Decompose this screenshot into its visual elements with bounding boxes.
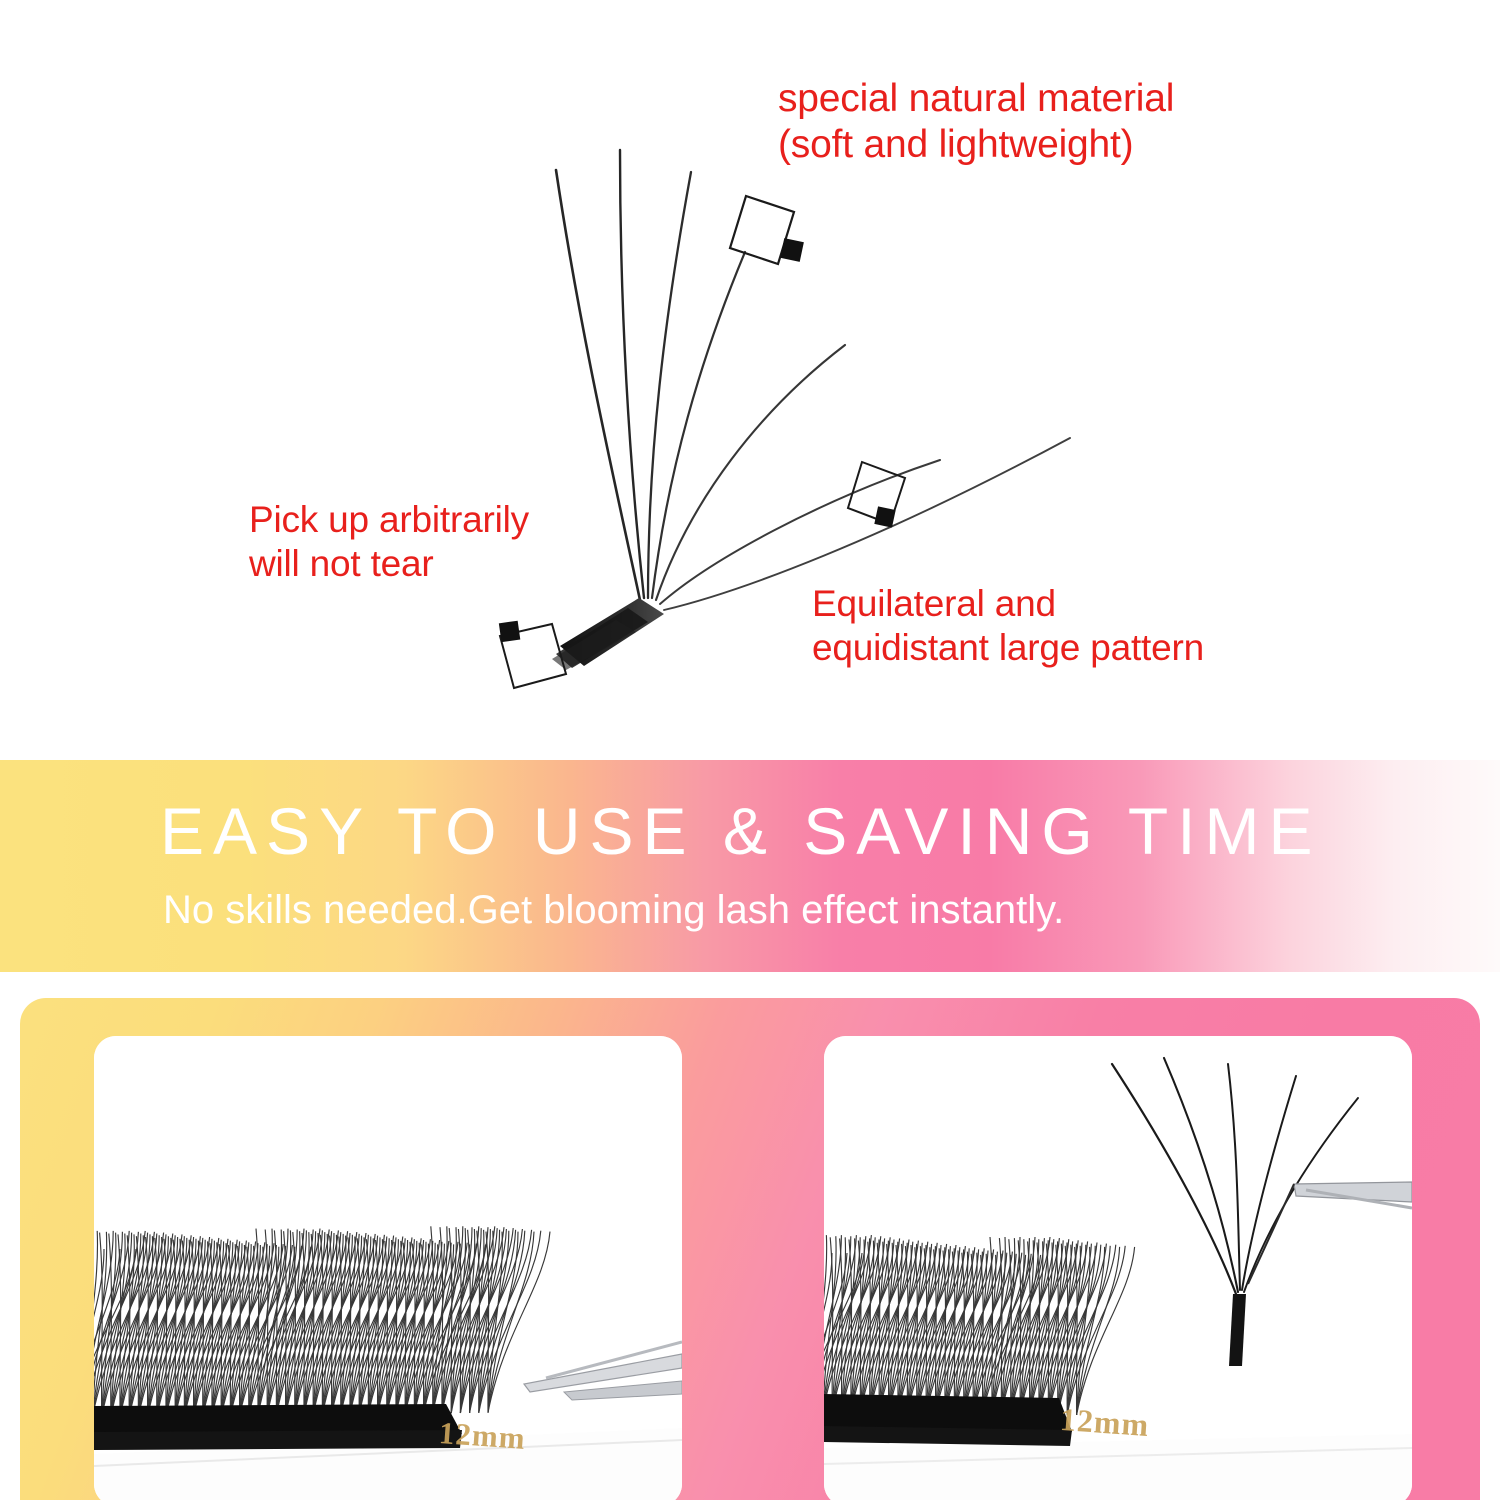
callout-label-material: special natural material (soft and light… bbox=[778, 76, 1174, 168]
lash-diagram-section: special natural material (soft and light… bbox=[0, 0, 1500, 760]
banner-subtitle: No skills needed.Get blooming lash effec… bbox=[163, 890, 1064, 930]
callout-label-pickup: Pick up arbitrarily will not tear bbox=[249, 498, 529, 585]
callout-marker-top bbox=[730, 196, 804, 264]
product-photo-lash-tray: 12mm bbox=[94, 1036, 682, 1500]
tray-size-label: 12mm bbox=[438, 1415, 527, 1457]
product-photos-frame: 12mm bbox=[20, 998, 1480, 1500]
lash-base bbox=[552, 598, 664, 670]
product-photo-lash-fan-pickup: 12mm bbox=[824, 1036, 1412, 1500]
callout-marker-right bbox=[848, 462, 905, 528]
lash-filaments bbox=[556, 150, 1070, 610]
callout-marker-base bbox=[499, 621, 566, 688]
lash-tray-photo-graphic bbox=[94, 1036, 682, 1500]
tray-size-label: 12mm bbox=[1059, 1401, 1151, 1444]
callout-label-pattern: Equilateral and equidistant large patter… bbox=[812, 582, 1204, 669]
banner-title: EASY TO USE & SAVING TIME bbox=[160, 798, 1400, 864]
lash-fan-illustration bbox=[0, 0, 1500, 760]
